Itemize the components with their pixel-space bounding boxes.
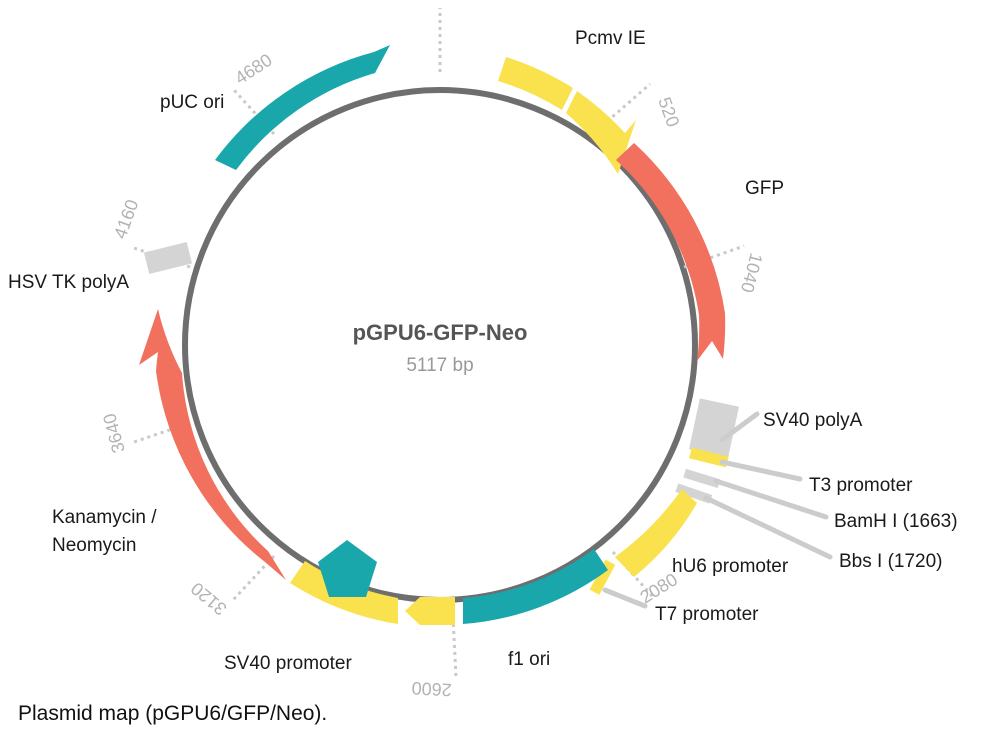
label-kanamycin-line1: Kanamycin /: [52, 507, 157, 528]
tick-mark-2600: [453, 617, 456, 677]
plasmid-length-subtitle: 5117 bp: [406, 355, 473, 376]
figure-caption: Plasmid map (pGPU6/GFP/Neo).: [18, 702, 327, 726]
kanamycin-arrow: [139, 309, 286, 580]
label-hu6-promoter: hU6 promoter: [672, 556, 789, 577]
label-t3-promoter: T3 promoter: [809, 475, 913, 496]
label-bbsi-site: Bbs I (1720): [839, 551, 943, 572]
label-t7-promoter: T7 promoter: [655, 604, 759, 625]
label-sv40-promoter: SV40 promoter: [224, 653, 352, 674]
bamhi-site-tick: [683, 469, 720, 488]
f1-ori-box: [463, 549, 608, 624]
label-gfp: GFP: [745, 178, 784, 199]
gfp-arrow: [616, 143, 725, 361]
label-kanamycin-line2: Neomycin: [52, 535, 136, 556]
tick-label-3120: 3120: [187, 578, 231, 619]
tick-label-4160: 4160: [110, 197, 142, 241]
label-bamhi-site: BamH I (1663): [834, 511, 958, 532]
tick-label-520: 520: [654, 95, 683, 130]
feature-puc-ori: [215, 45, 390, 170]
label-f1-ori: f1 ori: [508, 649, 550, 670]
feature-sv40-polya: [689, 398, 739, 457]
plasmid-circle-diagram: pGPU6-GFP-Neo 5117 bp Pcmv IE GFP SV40 p…: [0, 0, 982, 744]
leader-line-t3-promoter: [722, 462, 800, 479]
label-hsv-tk-polya: HSV TK polyA: [8, 272, 129, 293]
tick-label-3640: 3640: [99, 411, 129, 455]
tick-label-2600: 2600: [411, 678, 452, 700]
teal-pentagon-marker: [318, 540, 377, 597]
feature-gfp: [616, 143, 725, 361]
tick-label-1040: 1040: [737, 251, 767, 295]
hsv-tk-polya-box: [144, 242, 192, 274]
puc-ori-arrow: [215, 45, 390, 170]
feature-kanamycin-neomycin: [139, 309, 286, 580]
label-pcmv-ie: Pcmv IE: [575, 28, 646, 49]
feature-f1-ori: [463, 549, 608, 624]
label-puc-ori: pUC ori: [160, 92, 224, 113]
leader-line-bbsi: [706, 498, 830, 557]
sv40-polya-box: [689, 398, 739, 457]
tick-label-4680: 4680: [231, 50, 275, 89]
plasmid-name-title: pGPU6-GFP-Neo: [353, 320, 528, 345]
plasmid-map-figure: pGPU6-GFP-Neo 5117 bp Pcmv IE GFP SV40 p…: [0, 0, 982, 744]
label-sv40-polya: SV40 polyA: [763, 410, 863, 431]
